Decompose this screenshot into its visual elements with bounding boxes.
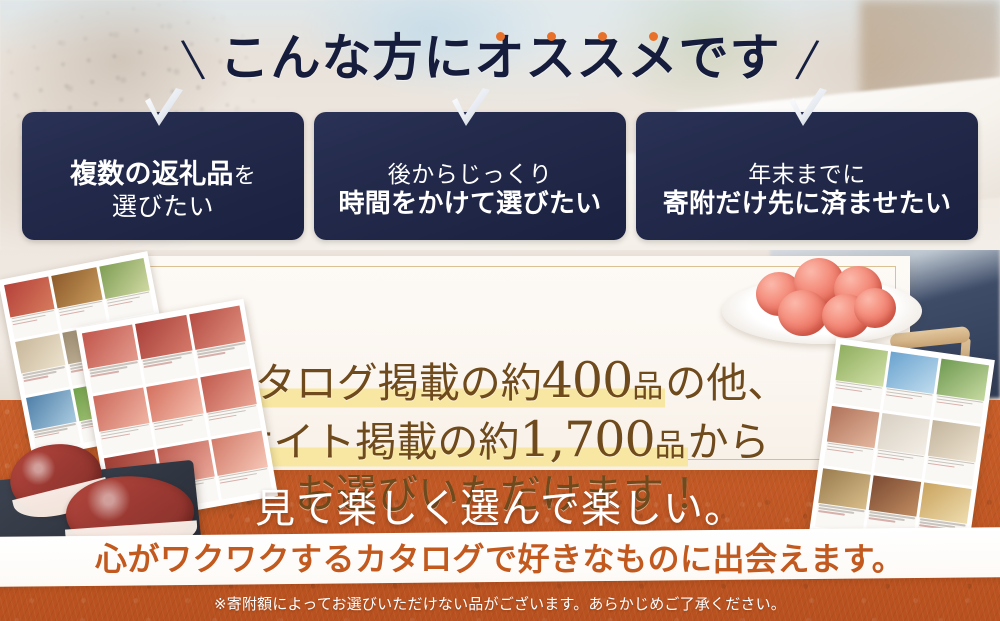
benefit-card-1-line1-main: 複数の返礼品 <box>70 159 234 190</box>
headline-emphasis: オススメ <box>475 28 679 87</box>
catalog-cell <box>832 344 888 409</box>
tagline-primary: 見て楽しく選んで楽しい。 <box>255 476 745 534</box>
footnote-row: ※寄附額によってお選びいただけない品がございます。あらかじめご了承ください。 <box>0 586 1000 620</box>
catalog-cell <box>15 333 70 395</box>
benefit-card-1-line1-suffix: を <box>234 164 256 189</box>
headline-suffix: です <box>679 28 781 87</box>
slash-left-icon: \ <box>179 28 207 92</box>
catalog-info-line-1-unit: 品 <box>632 369 663 405</box>
benefit-card-1-line1: 複数の返礼品を <box>70 159 256 192</box>
catalog-cell <box>874 413 930 478</box>
benefit-card-1-line2: 選びたい <box>112 192 214 223</box>
benefit-card-3: 年末までに 寄附だけ先に済ませたい <box>636 112 978 240</box>
catalog-info-line-1: カタログ掲載の約400品の他、 <box>212 353 789 410</box>
benefit-card-1: 複数の返礼品を 選びたい <box>22 112 304 240</box>
catalog-info-line-1-a: カタログ掲載の約 <box>214 359 542 407</box>
page-title: こんな方にオススメです <box>220 33 781 83</box>
catalog-cell <box>4 276 59 338</box>
tagline-white-band: 心がワクワクするカタログで好きなものに出会えます。 <box>0 527 1000 587</box>
peach <box>778 290 828 336</box>
benefit-card-2-line1: 後からじっくり <box>388 161 553 189</box>
catalog-count-400: 400 <box>542 352 633 409</box>
catalog-cell <box>933 359 989 424</box>
catalog-info-line-2-a: サイト掲載の約 <box>232 418 519 466</box>
catalog-cell <box>135 315 196 384</box>
headline-emphasis-wrap: オススメ <box>475 33 679 83</box>
headline-row: \ こんな方にオススメです / <box>0 22 1000 94</box>
catalog-info-line-2: サイト掲載の約1,700品から <box>230 412 769 469</box>
catalog-cell <box>99 258 154 320</box>
slash-right-icon: / <box>793 28 821 92</box>
catalog-cell <box>189 306 250 375</box>
catalog-cell <box>82 324 143 393</box>
footnote-text: ※寄附額によってお選びいただけない品がございます。あらかじめご了承ください。 <box>214 593 786 614</box>
catalog-info-line-2-unit: 品 <box>655 428 686 464</box>
catalog-info-line-2-highlight: サイト掲載の約1,700品 <box>230 412 687 469</box>
headline-prefix: こんな方に <box>220 28 475 87</box>
catalog-cell <box>200 368 261 437</box>
peaches-on-plate-image <box>722 250 922 344</box>
tagline-secondary: 心がワクワクするカタログで好きなものに出会えます。 <box>95 534 904 580</box>
catalog-cell <box>883 352 939 417</box>
tagline-orange-band: 見て楽しく選んで楽しい。 <box>0 474 1000 536</box>
benefit-card-2: 後からじっくり 時間をかけて選びたい <box>314 112 626 240</box>
catalog-info-line-1-c: の他、 <box>665 359 788 407</box>
benefit-card-list: 複数の返礼品を 選びたい 後からじっくり 時間をかけて選びたい 年末までに 寄附… <box>0 112 1000 252</box>
peach <box>854 288 896 328</box>
promo-banner: \ こんな方にオススメです / 複数の返礼品を 選びたい <box>0 0 1000 621</box>
benefit-card-2-line2: 時間をかけて選びたい <box>338 189 601 221</box>
catalog-info-line-1-highlight: カタログ掲載の約400品 <box>212 353 666 410</box>
catalog-info-line-2-c: から <box>688 418 770 466</box>
benefit-card-3-line2: 寄附だけ先に済ませたい <box>663 189 952 221</box>
catalog-count-1700: 1,700 <box>519 411 654 468</box>
benefit-card-3-line1: 年末までに <box>748 161 866 189</box>
catalog-cell <box>824 406 880 471</box>
catalog-cell <box>52 267 107 329</box>
